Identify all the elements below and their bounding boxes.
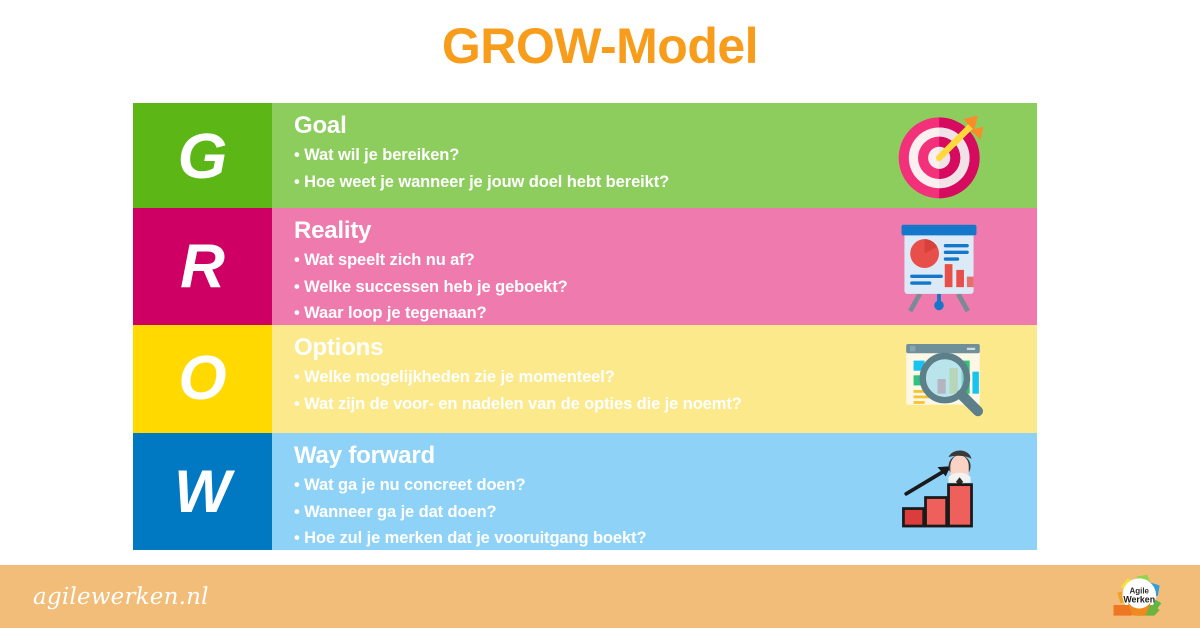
letter-r: R bbox=[180, 236, 225, 298]
content-cell-way-forward: Way forward Wat ga je nu concreet doen? … bbox=[272, 433, 1037, 550]
growth-bars-person-icon bbox=[893, 446, 993, 538]
grow-rows: G Goal Wat wil je bereiken? Hoe weet je … bbox=[133, 103, 1037, 550]
magnifier-dashboard-icon bbox=[893, 333, 993, 425]
agile-werken-logo[interactable]: Agile Werken bbox=[1110, 569, 1172, 625]
content-cell-options: Options Welke mogelijkheden zie je momen… bbox=[272, 325, 1037, 433]
logo-line-2: Werken bbox=[1123, 594, 1155, 604]
footer-bar: agilewerken.nl Agile Werken bbox=[0, 565, 1200, 628]
content-cell-goal: Goal Wat wil je bereiken? Hoe weet je wa… bbox=[272, 103, 1037, 208]
letter-cell-r: R bbox=[133, 208, 272, 325]
letter-w: W bbox=[174, 462, 231, 522]
grow-row-goal: G Goal Wat wil je bereiken? Hoe weet je … bbox=[133, 103, 1037, 208]
infographic-canvas: GROW-Model G Goal Wat wil je bereiken? H… bbox=[0, 0, 1200, 628]
letter-cell-w: W bbox=[133, 433, 272, 550]
grow-row-options: O Options Welke mogelijkheden zie je mom… bbox=[133, 325, 1037, 433]
grow-row-reality: R Reality Wat speelt zich nu af? Welke s… bbox=[133, 208, 1037, 325]
page-title: GROW-Model bbox=[0, 17, 1200, 75]
letter-cell-g: G bbox=[133, 103, 272, 208]
content-cell-reality: Reality Wat speelt zich nu af? Welke suc… bbox=[272, 208, 1037, 325]
target-dartboard-icon bbox=[895, 110, 987, 202]
letter-o: O bbox=[178, 348, 226, 410]
letter-g: G bbox=[178, 124, 228, 188]
presentation-board-chart-icon bbox=[889, 221, 989, 313]
grow-row-way-forward: W Way forward Wat ga je nu concreet doen… bbox=[133, 433, 1037, 550]
letter-cell-o: O bbox=[133, 325, 272, 433]
footer-website-url[interactable]: agilewerken.nl bbox=[33, 584, 209, 610]
